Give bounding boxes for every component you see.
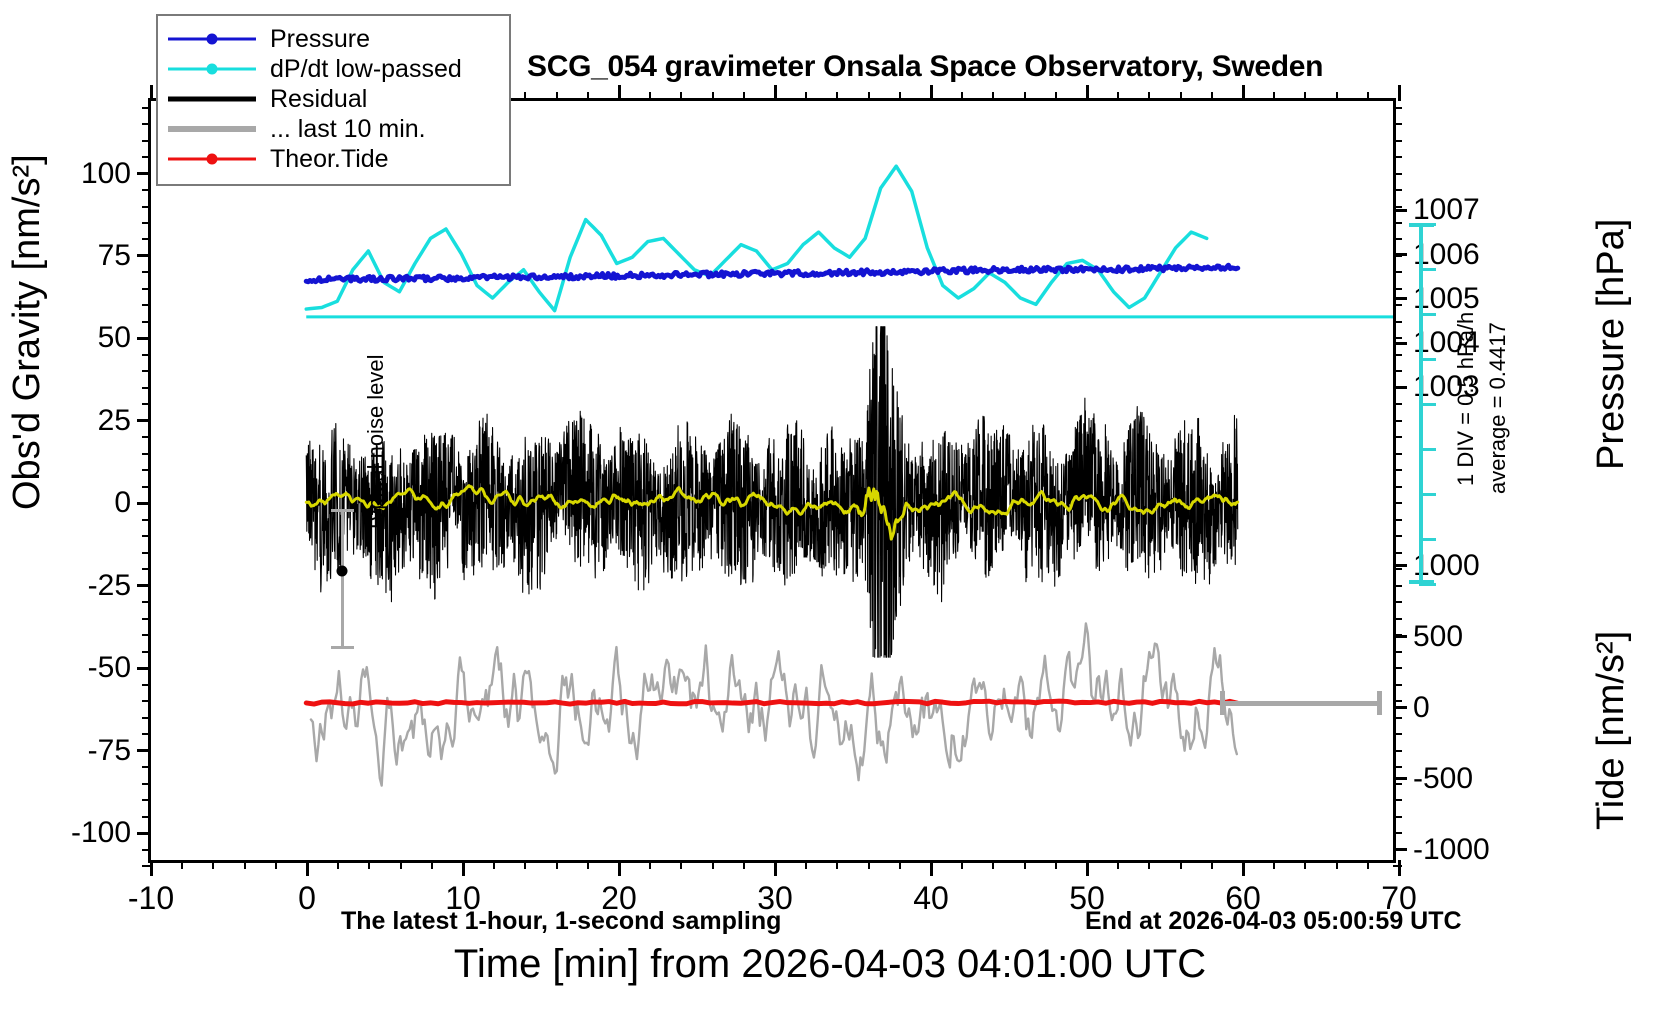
y-tick-minor	[142, 156, 151, 158]
y-tick-minor	[142, 436, 151, 438]
x-tick-top-minor	[868, 92, 870, 101]
y-tick-minor	[142, 634, 151, 636]
dpdt-scale-tick	[1419, 313, 1436, 316]
y-tick-minor	[142, 766, 151, 768]
y-tick-minor	[142, 403, 151, 405]
legend-line-icon	[168, 126, 256, 132]
x-tick-minor	[899, 860, 901, 869]
dpdt-scale-tick	[1419, 583, 1436, 586]
x-tick-top-minor	[992, 92, 994, 101]
x-tick-label: -10	[128, 880, 174, 917]
x-tick-top-minor	[899, 92, 901, 101]
x-tick-top-major	[618, 85, 621, 101]
right-tick-minor	[1393, 156, 1402, 158]
y-tick-minor	[142, 684, 151, 686]
right-tick-minor	[1393, 849, 1402, 851]
right-tick-minor	[1393, 733, 1402, 735]
x-tick-minor	[1055, 860, 1057, 869]
y-tick-minor	[142, 486, 151, 488]
right-tick-minor	[1393, 799, 1402, 801]
right-tick-minor	[1393, 601, 1402, 603]
dpdt-scale-tick	[1419, 268, 1436, 271]
y-tick-major	[137, 667, 151, 670]
right-tick-minor	[1393, 568, 1402, 570]
right-tick-minor	[1393, 271, 1402, 273]
y-tick-minor	[142, 717, 151, 719]
x-tick-minor	[836, 860, 838, 869]
y-tick-minor	[142, 618, 151, 620]
x-tick-top-minor	[1055, 92, 1057, 101]
noise-level-label: Typical noise level	[363, 354, 389, 533]
x-tick-major	[774, 860, 777, 876]
y-tick-label: 0	[114, 486, 131, 520]
x-tick-minor	[868, 860, 870, 869]
dpdt-scale-tick	[1419, 403, 1436, 406]
legend-item-theor-tide[interactable]: Theor.Tide	[168, 144, 499, 174]
x-tick-top-major	[150, 85, 153, 101]
y-tick-major	[137, 172, 151, 175]
right-tick-minor	[1393, 304, 1402, 306]
y-tick-minor	[142, 733, 151, 735]
right-tick-minor	[1393, 189, 1402, 191]
x-tick-minor	[556, 860, 558, 869]
right-tick-minor	[1393, 453, 1402, 455]
right-tide-tick-major	[1393, 777, 1407, 780]
right-tide-tick-major	[1393, 706, 1407, 709]
right-tick-minor	[1393, 420, 1402, 422]
x-tick-minor	[680, 860, 682, 869]
x-tick-minor	[368, 860, 370, 869]
right-pressure-tick-label: 1006	[1413, 238, 1480, 272]
y-tick-label: 75	[98, 239, 131, 273]
x-tick-minor	[649, 860, 651, 869]
right-tick-minor	[1393, 354, 1402, 356]
x-tick-minor	[1336, 860, 1338, 869]
y-tick-minor	[142, 783, 151, 785]
noise-level-cap-top	[331, 509, 354, 512]
y-tick-minor	[142, 519, 151, 521]
x-tick-major	[1242, 860, 1245, 876]
x-tick-top-major	[930, 85, 933, 101]
y-tick-minor	[142, 206, 151, 208]
y-tick-label: 50	[98, 321, 131, 355]
legend-marker-dot-icon	[207, 34, 218, 45]
right-tick-minor	[1393, 585, 1402, 587]
plot-title: SCG_054 gravimeter Onsala Space Observat…	[527, 50, 1323, 84]
x-tick-minor	[1024, 860, 1026, 869]
x-tick-minor	[1117, 860, 1119, 869]
right-tick-minor	[1393, 370, 1402, 372]
y-tick-minor	[142, 123, 151, 125]
x-tick-top-minor	[1117, 92, 1119, 101]
legend-label: Theor.Tide	[270, 145, 389, 174]
x-tick-minor	[400, 860, 402, 869]
right-tick-minor	[1393, 700, 1402, 702]
last-10-min-span-cap-right	[1377, 691, 1382, 715]
y-tick-minor	[142, 140, 151, 142]
noise-level-bar	[341, 509, 344, 649]
dpdt-scale-tick	[1419, 538, 1436, 541]
x-tick-minor	[1180, 860, 1182, 869]
x-tick-major	[618, 860, 621, 876]
right-tick-minor	[1393, 206, 1402, 208]
x-tick-major	[306, 860, 309, 876]
right-tick-minor	[1393, 717, 1402, 719]
y-tick-major	[137, 832, 151, 835]
plot-area: -100-75-50-250255075100 1003100410051006…	[148, 98, 1396, 863]
legend-swatch-icon	[168, 28, 256, 50]
right-pressure-tick-major	[1393, 297, 1407, 300]
y-tick-major	[137, 419, 151, 422]
x-tick-top-minor	[712, 92, 714, 101]
x-tick-minor	[181, 860, 183, 869]
x-tick-minor	[524, 860, 526, 869]
y-tick-minor	[142, 370, 151, 372]
y-tick-minor	[142, 387, 151, 389]
y-tick-minor	[142, 453, 151, 455]
right-tick-minor	[1393, 634, 1402, 636]
x-tick-minor	[275, 860, 277, 869]
y-tick-minor	[142, 222, 151, 224]
y-tick-minor	[142, 304, 151, 306]
x-tick-minor	[805, 860, 807, 869]
x-tick-minor	[992, 860, 994, 869]
x-tick-top-minor	[1148, 92, 1150, 101]
x-tick-major	[1398, 860, 1401, 876]
right-tide-tick-label: 500	[1413, 620, 1463, 654]
x-tick-minor	[431, 860, 433, 869]
x-tick-minor	[743, 860, 745, 869]
noise-level-dot	[337, 566, 348, 577]
legend-marker-dot-icon	[207, 64, 218, 75]
right-axis-title-pressure: Pressure [hPa]	[1590, 219, 1633, 470]
noise-level-cap-bottom	[331, 646, 354, 649]
x-tick-major	[150, 860, 153, 876]
x-tick-label: 0	[298, 880, 316, 917]
y-tick-minor	[142, 552, 151, 554]
y-tick-minor	[142, 238, 151, 240]
legend-line-icon	[168, 97, 256, 102]
y-tick-minor	[142, 189, 151, 191]
right-tick-minor	[1393, 535, 1402, 537]
x-tick-minor	[337, 860, 339, 869]
x-axis-title: Time [min] from 2026-04-03 04:01:00 UTC	[454, 942, 1206, 987]
x-tick-minor	[587, 860, 589, 869]
y-tick-label: 25	[98, 404, 131, 438]
right-axis-title-tide: Tide [nm/s²]	[1590, 631, 1633, 830]
y-tick-minor	[142, 816, 151, 818]
y-tick-minor	[142, 700, 151, 702]
legend-label: Residual	[270, 85, 367, 114]
legend-swatch-icon	[168, 148, 256, 170]
y-tick-major	[137, 584, 151, 587]
right-tide-tick-label: 1000	[1413, 549, 1480, 583]
y-tick-label: -75	[88, 734, 131, 768]
x-tick-top-major	[1086, 85, 1089, 101]
right-pressure-tick-major	[1393, 209, 1407, 212]
y-tick-label: -100	[71, 816, 131, 850]
y-tick-minor	[142, 651, 151, 653]
annotation-end-time: End at 2026-04-03 05:00:59 UTC	[1085, 907, 1462, 936]
x-tick-top-minor	[1024, 92, 1026, 101]
legend-swatch-icon	[168, 118, 256, 140]
legend: PressuredP/dt low-passedResidual... last…	[156, 14, 511, 186]
y-tick-minor	[142, 535, 151, 537]
dpdt-scale-tick	[1419, 223, 1436, 226]
legend-label: dP/dt low-passed	[270, 55, 462, 84]
x-tick-top-minor	[556, 92, 558, 101]
y-tick-major	[137, 254, 151, 257]
x-tick-top-minor	[961, 92, 963, 101]
y-tick-minor	[142, 849, 151, 851]
x-tick-minor	[1273, 860, 1275, 869]
x-tick-minor	[212, 860, 214, 869]
legend-marker-dot-icon	[207, 154, 218, 165]
right-tick-minor	[1393, 816, 1402, 818]
y-tick-minor	[142, 354, 151, 356]
x-tick-minor	[244, 860, 246, 869]
x-tick-top-minor	[805, 92, 807, 101]
y-tick-label: 100	[81, 157, 131, 191]
legend-swatch-icon	[168, 88, 256, 110]
x-tick-major	[462, 860, 465, 876]
x-tick-top-minor	[1273, 92, 1275, 101]
y-tick-label: -50	[88, 651, 131, 685]
x-tick-top-minor	[680, 92, 682, 101]
right-tick-minor	[1393, 502, 1402, 504]
right-tick-minor	[1393, 667, 1402, 669]
right-tick-minor	[1393, 238, 1402, 240]
right-tide-tick-major	[1393, 564, 1407, 567]
right-tick-minor	[1393, 684, 1402, 686]
right-tick-minor	[1393, 436, 1402, 438]
x-tick-minor	[961, 860, 963, 869]
x-tick-top-minor	[1367, 92, 1369, 101]
y-tick-minor	[142, 271, 151, 273]
last-10-min-span-bar	[1222, 701, 1382, 706]
right-tick-minor	[1393, 651, 1402, 653]
x-tick-minor	[1148, 860, 1150, 869]
y-tick-minor	[142, 601, 151, 603]
last-10-min-span-cap-left	[1220, 691, 1225, 715]
right-tick-minor	[1393, 321, 1402, 323]
y-tick-minor	[142, 107, 151, 109]
right-tide-tick-label: -1000	[1413, 833, 1490, 867]
legend-item-pressure[interactable]: Pressure	[168, 24, 499, 54]
x-tick-top-minor	[524, 92, 526, 101]
y-tick-minor	[142, 288, 151, 290]
y-tick-label: -25	[88, 569, 131, 603]
x-tick-label: 40	[913, 880, 949, 917]
dpdt-scale-tick	[1419, 358, 1436, 361]
data-traces	[151, 101, 1393, 860]
right-tick-minor	[1393, 832, 1402, 834]
x-tick-top-minor	[649, 92, 651, 101]
x-tick-top-minor	[1180, 92, 1182, 101]
x-tick-major	[1086, 860, 1089, 876]
x-tick-top-major	[774, 85, 777, 101]
right-tick-minor	[1393, 255, 1402, 257]
x-tick-minor	[1211, 860, 1213, 869]
right-tick-minor	[1393, 288, 1402, 290]
legend-item-last-10-min[interactable]: ... last 10 min.	[168, 114, 499, 144]
dpdt-scale-label: 1 DIV = 0.5 hPa/h	[1453, 312, 1479, 486]
y-tick-minor	[142, 799, 151, 801]
right-tick-minor	[1393, 387, 1402, 389]
annotation-latest-sampling: The latest 1-hour, 1-second sampling	[341, 907, 781, 936]
x-tick-top-minor	[1304, 92, 1306, 101]
right-tick-minor	[1393, 107, 1402, 109]
right-tick-minor	[1393, 519, 1402, 521]
x-tick-minor	[1367, 860, 1369, 869]
right-tide-tick-label: 0	[1413, 691, 1430, 725]
right-tick-minor	[1393, 618, 1402, 620]
x-tick-top-minor	[1336, 92, 1338, 101]
y-tick-major	[137, 337, 151, 340]
right-tick-minor	[1393, 337, 1402, 339]
y-tick-major	[137, 502, 151, 505]
right-tick-minor	[1393, 486, 1402, 488]
x-tick-top-minor	[1211, 92, 1213, 101]
right-tick-minor	[1393, 403, 1402, 405]
x-tick-top-major	[1398, 85, 1401, 101]
y-tick-major	[137, 749, 151, 752]
dpdt-average-label: average = 0.4417	[1485, 322, 1511, 494]
right-tick-minor	[1393, 750, 1402, 752]
right-tick-minor	[1393, 766, 1402, 768]
x-tick-minor	[1304, 860, 1306, 869]
legend-item-dp-dt-low-passed[interactable]: dP/dt low-passed	[168, 54, 499, 84]
right-tick-minor	[1393, 123, 1402, 125]
x-tick-top-minor	[836, 92, 838, 101]
x-tick-top-major	[1242, 85, 1245, 101]
legend-label: ... last 10 min.	[270, 115, 426, 144]
dpdt-scale-tick	[1419, 493, 1436, 496]
right-tick-minor	[1393, 552, 1402, 554]
x-tick-major	[930, 860, 933, 876]
trace-dpdt-lowpassed	[306, 166, 1393, 317]
legend-label: Pressure	[270, 25, 370, 54]
plot-canvas: SCG_054 gravimeter Onsala Space Observat…	[0, 0, 1660, 1020]
trace-theor-tide	[306, 701, 1238, 704]
x-tick-minor	[712, 860, 714, 869]
dpdt-scale-tick	[1419, 448, 1436, 451]
right-tick-minor	[1393, 173, 1402, 175]
right-tick-minor	[1393, 783, 1402, 785]
right-tick-minor	[1393, 222, 1402, 224]
x-tick-minor	[493, 860, 495, 869]
x-tick-top-minor	[587, 92, 589, 101]
x-tick-top-minor	[743, 92, 745, 101]
legend-item-residual[interactable]: Residual	[168, 84, 499, 114]
right-tick-minor	[1393, 140, 1402, 142]
right-pressure-tick-major	[1393, 342, 1407, 345]
y-axis-title: Obs'd Gravity [nm/s²]	[6, 154, 49, 510]
y-tick-minor	[142, 568, 151, 570]
right-tide-tick-label: -500	[1413, 762, 1473, 796]
y-tick-minor	[142, 469, 151, 471]
legend-swatch-icon	[168, 58, 256, 80]
y-tick-minor	[142, 321, 151, 323]
trace-residual	[306, 327, 1238, 657]
right-tick-minor	[1393, 469, 1402, 471]
